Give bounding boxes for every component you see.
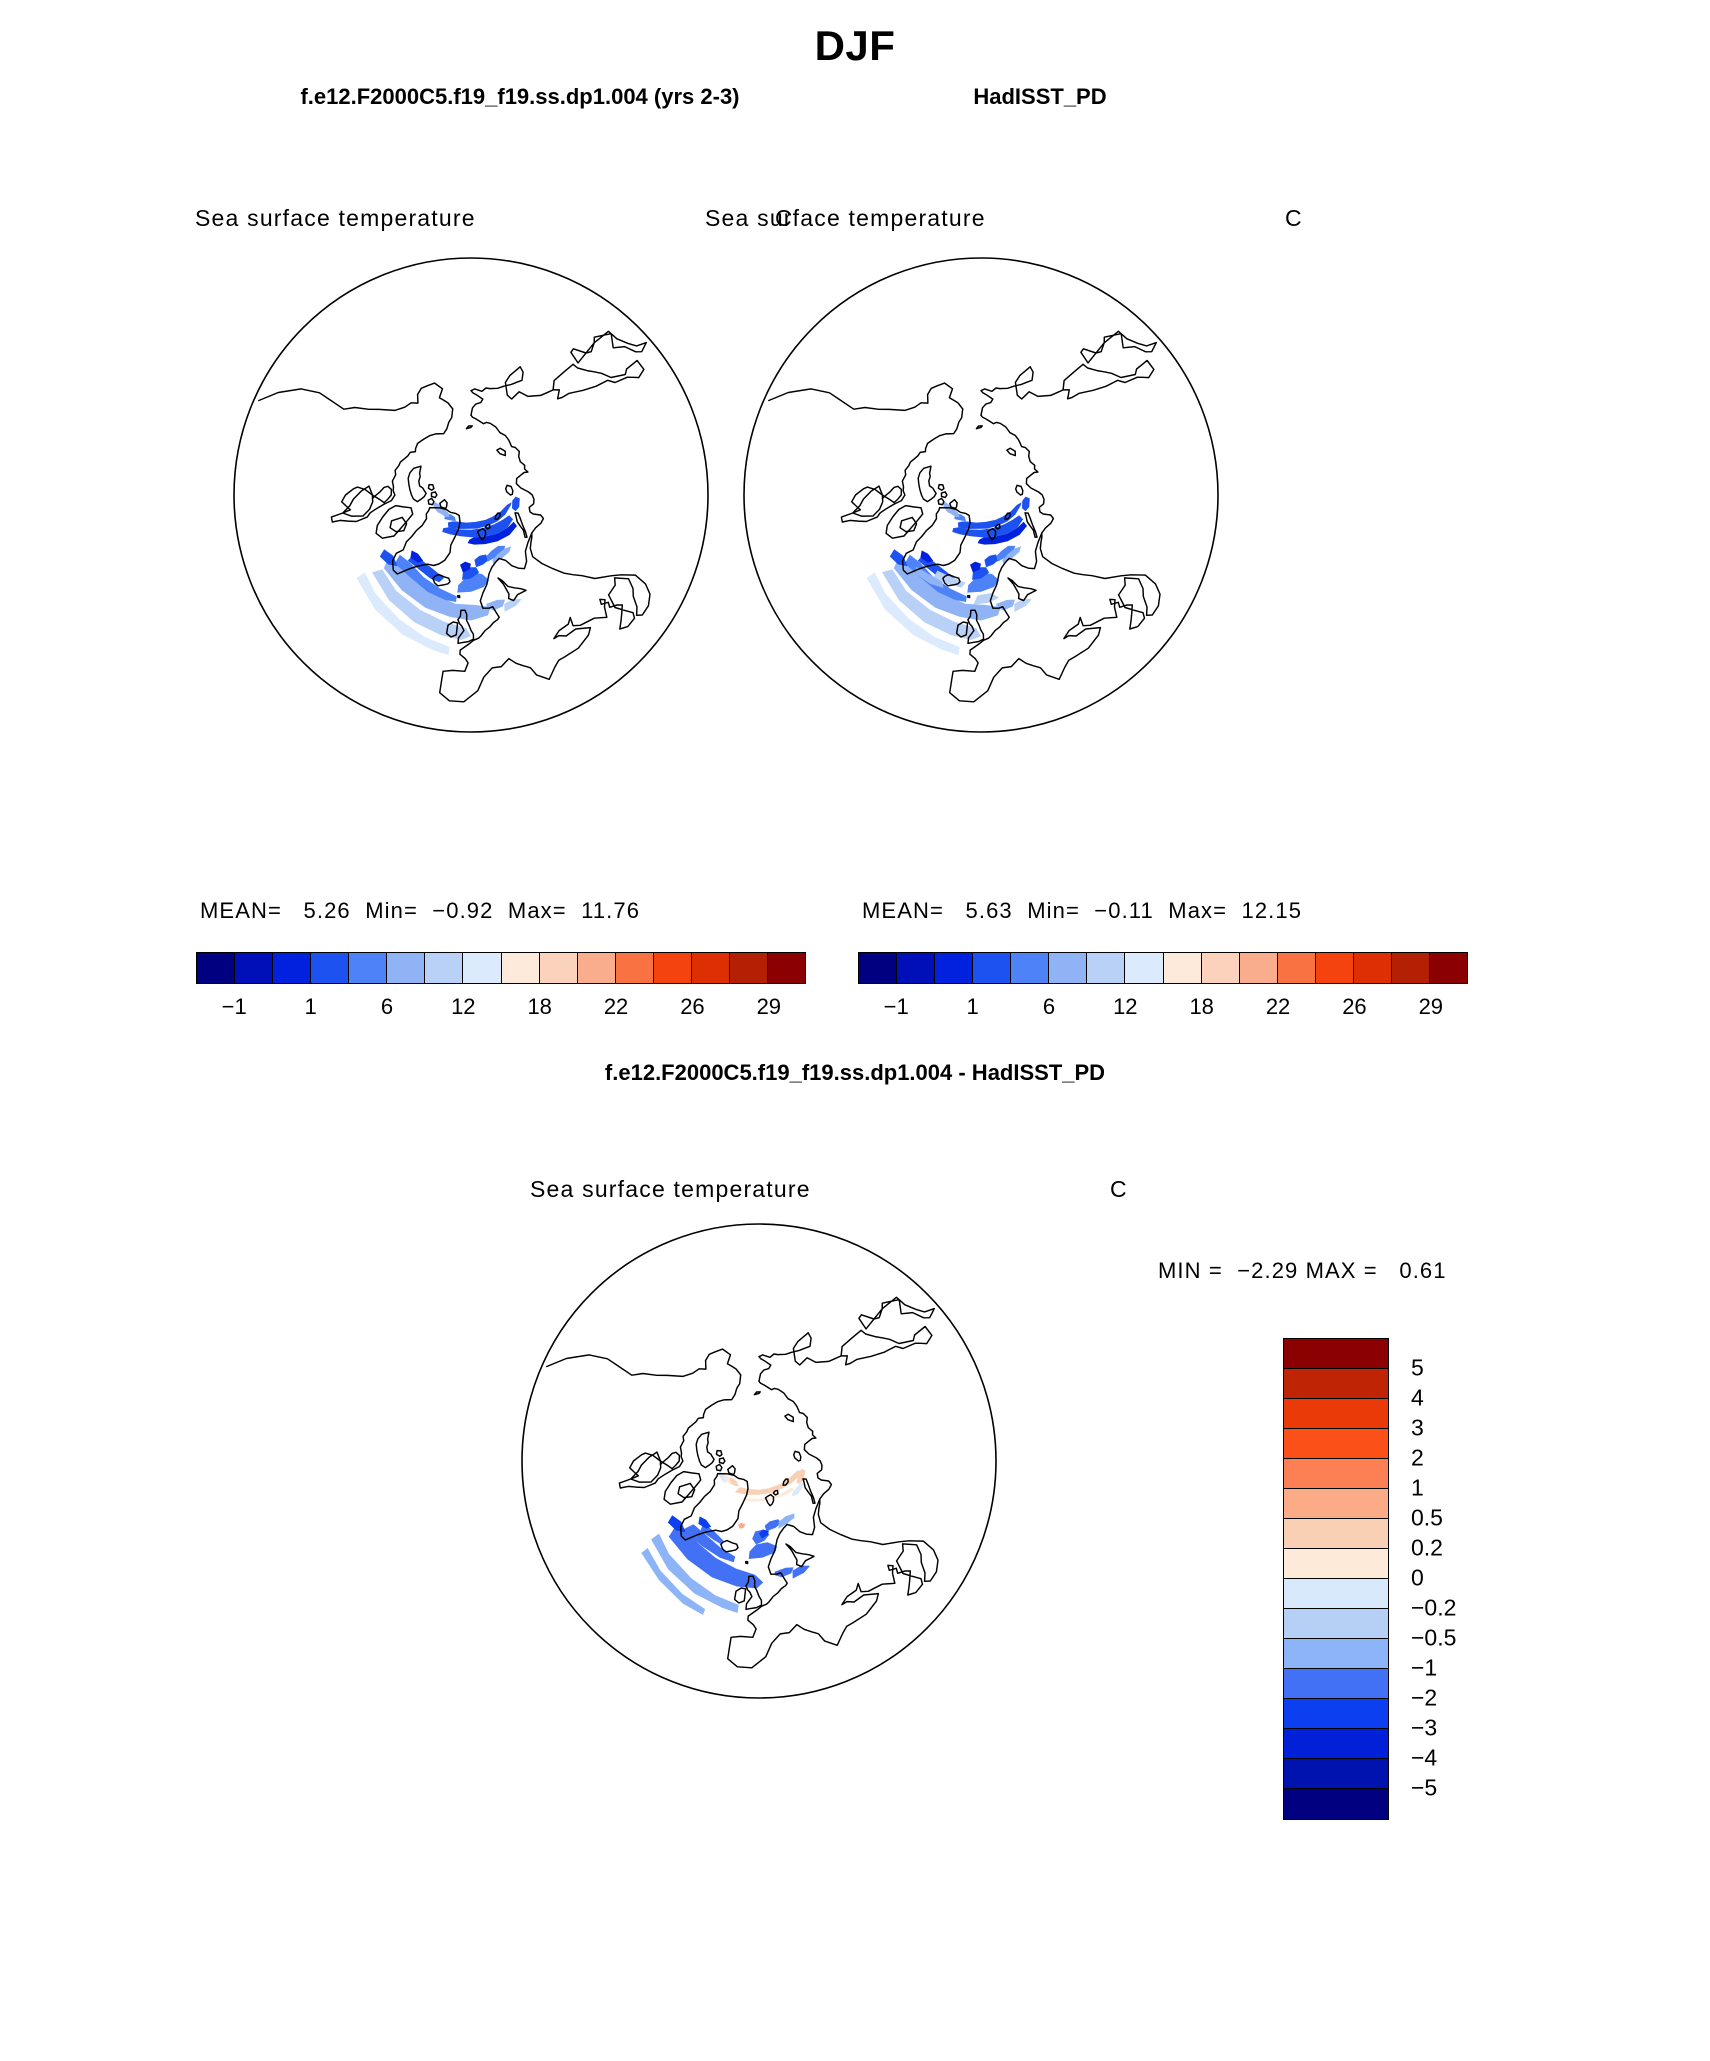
colorbar-tick-label: 6	[381, 994, 393, 1020]
colorbar-tick-label: 5	[1411, 1355, 1424, 1382]
colorbar-tick-label: 1	[966, 994, 978, 1020]
coastline	[720, 1458, 725, 1464]
coastline	[428, 485, 434, 491]
colorbar-cell	[273, 953, 311, 983]
panel-left-stats: MEAN= 5.26 Min= −0.92 Max= 11.76	[200, 898, 640, 924]
coastline	[466, 426, 472, 429]
colorbar-model: −1161218222629	[196, 952, 807, 1028]
colorbar-cell	[1284, 1459, 1388, 1489]
colorbar-cell	[1284, 1339, 1388, 1369]
colorbar-cell	[859, 953, 897, 983]
coastline	[769, 383, 963, 410]
coastline	[938, 485, 944, 491]
colorbar-tick-label: −0.5	[1411, 1625, 1456, 1652]
coastline	[759, 1327, 932, 1382]
coastline	[428, 498, 434, 504]
coastline	[471, 415, 543, 533]
colorbar-tick-label: −2	[1411, 1685, 1437, 1712]
coastline	[886, 506, 923, 539]
contour-fill	[973, 593, 999, 605]
colorbar-cell	[1284, 1399, 1388, 1429]
coastline	[766, 1495, 774, 1506]
colorbar-cell	[1284, 1429, 1388, 1459]
contour-fill	[698, 1516, 711, 1528]
coastline	[498, 578, 526, 601]
polar-map-model	[232, 256, 710, 734]
colorbar-tick-label: 26	[1342, 994, 1366, 1020]
colorbar-tick-label: −4	[1411, 1745, 1437, 1772]
coastline	[376, 506, 413, 539]
colorbar-cell	[1240, 953, 1278, 983]
coastline	[458, 596, 460, 598]
coastline	[571, 331, 646, 363]
colorbar-tick-label: 12	[451, 994, 475, 1020]
coastline	[1081, 331, 1156, 363]
coastline	[950, 500, 957, 509]
coastline	[716, 1451, 722, 1457]
colorbar-tick-label: 1	[1411, 1475, 1424, 1502]
colorbar-cell	[973, 953, 1011, 983]
coastline	[1025, 513, 1037, 538]
colorbar-difference: 543210.50.20−0.2−0.5−1−2−3−4−5	[1283, 1338, 1533, 1828]
panel-title-observation: HadISST_PD	[760, 84, 1320, 110]
coastline	[1007, 448, 1015, 455]
contour-fill	[1022, 497, 1030, 512]
colorbar-cell	[730, 953, 768, 983]
colorbar-tick-label: −1	[884, 994, 909, 1020]
coastline	[976, 426, 982, 429]
colorbar-cell	[1164, 953, 1202, 983]
colorbar-cell	[1354, 953, 1392, 983]
colorbar-tick-label: 12	[1113, 994, 1137, 1020]
colorbar-tick-label: −1	[1411, 1655, 1437, 1682]
map-canvas	[520, 1222, 998, 1700]
contour-fill	[512, 497, 520, 512]
map-canvas	[742, 256, 1220, 734]
colorbar-cell	[1011, 953, 1049, 983]
coastline	[721, 1541, 738, 1552]
colorbar-cell	[349, 953, 387, 983]
panel-left-variable-label: Sea surface temperature	[195, 205, 476, 232]
coastline	[471, 361, 644, 416]
colorbar-tick-label: 29	[1419, 994, 1443, 1020]
coastline	[938, 498, 944, 504]
colorbar-cell	[897, 953, 935, 983]
coastline	[547, 1349, 741, 1376]
colorbar-cell	[235, 953, 273, 983]
season-title: DJF	[0, 22, 1710, 70]
colorbar-cell	[1284, 1519, 1388, 1549]
coastline	[803, 1479, 815, 1504]
map-outline	[234, 258, 708, 732]
polar-map-observation	[742, 256, 1220, 734]
colorbar-cell	[540, 953, 578, 983]
colorbar-tick-label: 3	[1411, 1415, 1424, 1442]
panel-title-difference: f.e12.F2000C5.f19_f19.ss.dp1.004 - HadIS…	[0, 1060, 1710, 1086]
coastline	[759, 1381, 831, 1499]
coastline	[408, 466, 426, 501]
colorbar-cell	[1202, 953, 1240, 983]
panel-diff-unit-label: C	[1110, 1176, 1127, 1203]
colorbar-cell	[1087, 953, 1125, 983]
colorbar-tick-label: 1	[304, 994, 316, 1020]
colorbar-cell	[1284, 1789, 1388, 1819]
coastline	[716, 1464, 722, 1470]
colorbar-tick-label: 0.2	[1411, 1535, 1443, 1562]
coastline	[981, 361, 1154, 416]
coastline	[1016, 485, 1023, 495]
contour-fill	[738, 1523, 745, 1529]
colorbar-cell	[1284, 1699, 1388, 1729]
panel-right-stats: MEAN= 5.63 Min= −0.11 Max= 12.15	[862, 898, 1302, 924]
panel-diff-stats: MIN = −2.29 MAX = 0.61	[1158, 1258, 1447, 1284]
colorbar-tick-label: 18	[1189, 994, 1213, 1020]
map-outline	[522, 1224, 996, 1698]
colorbar-cell	[387, 953, 425, 983]
coastline	[440, 500, 447, 509]
coastline	[664, 1472, 701, 1505]
colorbar-tick-label: −0.2	[1411, 1595, 1456, 1622]
colorbar-observation: −1161218222629	[858, 952, 1469, 1028]
colorbar-cell	[197, 953, 235, 983]
colorbar-cell	[1284, 1369, 1388, 1399]
colorbar-cell	[1284, 1579, 1388, 1609]
contour-fill	[735, 1470, 804, 1494]
colorbar-cell	[463, 953, 501, 983]
colorbar-tick-label: 0	[1411, 1565, 1424, 1592]
polar-map-difference	[520, 1222, 998, 1700]
colorbar-cell	[1284, 1759, 1388, 1789]
coastline	[942, 492, 947, 498]
colorbar-tick-label: 2	[1411, 1445, 1424, 1472]
colorbar-cell	[935, 953, 973, 983]
colorbar-tick-label: 22	[1266, 994, 1290, 1020]
colorbar-cell	[502, 953, 540, 983]
colorbar-tick-label: 29	[757, 994, 781, 1020]
colorbar-cell	[1278, 953, 1316, 983]
coastline	[497, 448, 505, 455]
panel-diff-variable-label: Sea surface temperature	[530, 1176, 811, 1203]
colorbar-cell	[1284, 1639, 1388, 1669]
colorbar-cell	[616, 953, 654, 983]
contour-fill	[775, 1567, 794, 1577]
coastline	[1008, 578, 1036, 601]
colorbar-cell	[1284, 1489, 1388, 1519]
coastline	[794, 1451, 801, 1461]
coastline	[859, 1297, 934, 1329]
coastline	[746, 1562, 748, 1564]
contour-fill	[793, 1566, 811, 1579]
coastline	[786, 1544, 814, 1567]
coastline	[728, 1466, 735, 1475]
colorbar-tick-label: 18	[527, 994, 551, 1020]
coastline	[259, 383, 453, 410]
coastline	[506, 485, 513, 495]
colorbar-tick-label: −1	[222, 994, 247, 1020]
colorbar-cell	[692, 953, 730, 983]
colorbar-cell	[425, 953, 463, 983]
colorbar-cell	[1316, 953, 1354, 983]
colorbar-tick-label: 6	[1043, 994, 1055, 1020]
colorbar-cell	[654, 953, 692, 983]
colorbar-tick-label: 0.5	[1411, 1505, 1443, 1532]
colorbar-tick-label: 4	[1411, 1385, 1424, 1412]
colorbar-tick-label: 22	[604, 994, 628, 1020]
coastline	[696, 1432, 714, 1467]
colorbar-cell	[311, 953, 349, 983]
colorbar-cell	[1284, 1549, 1388, 1579]
coastline	[981, 415, 1053, 533]
map-outline	[744, 258, 1218, 732]
coastline	[515, 513, 527, 538]
colorbar-tick-label: −5	[1411, 1775, 1437, 1802]
colorbar-cell	[1284, 1729, 1388, 1759]
panel-right-variable-label: Sea surface temperature	[705, 205, 986, 232]
colorbar-cell	[578, 953, 616, 983]
colorbar-cell	[768, 953, 805, 983]
colorbar-tick-label: −3	[1411, 1715, 1437, 1742]
coastline	[735, 1588, 746, 1603]
colorbar-cell	[1049, 953, 1087, 983]
colorbar-cell	[1284, 1609, 1388, 1639]
colorbar-cell	[1392, 953, 1430, 983]
coastline	[968, 596, 970, 598]
colorbar-cell	[1125, 953, 1163, 983]
colorbar-cell	[1430, 953, 1467, 983]
coastline	[432, 492, 437, 498]
map-canvas	[232, 256, 710, 734]
coastline	[754, 1392, 760, 1395]
colorbar-tick-label: 26	[680, 994, 704, 1020]
panel-right-unit-label: C	[1285, 205, 1302, 232]
colorbar-cell	[1284, 1669, 1388, 1699]
coastline	[918, 466, 936, 501]
coastline	[785, 1414, 793, 1421]
